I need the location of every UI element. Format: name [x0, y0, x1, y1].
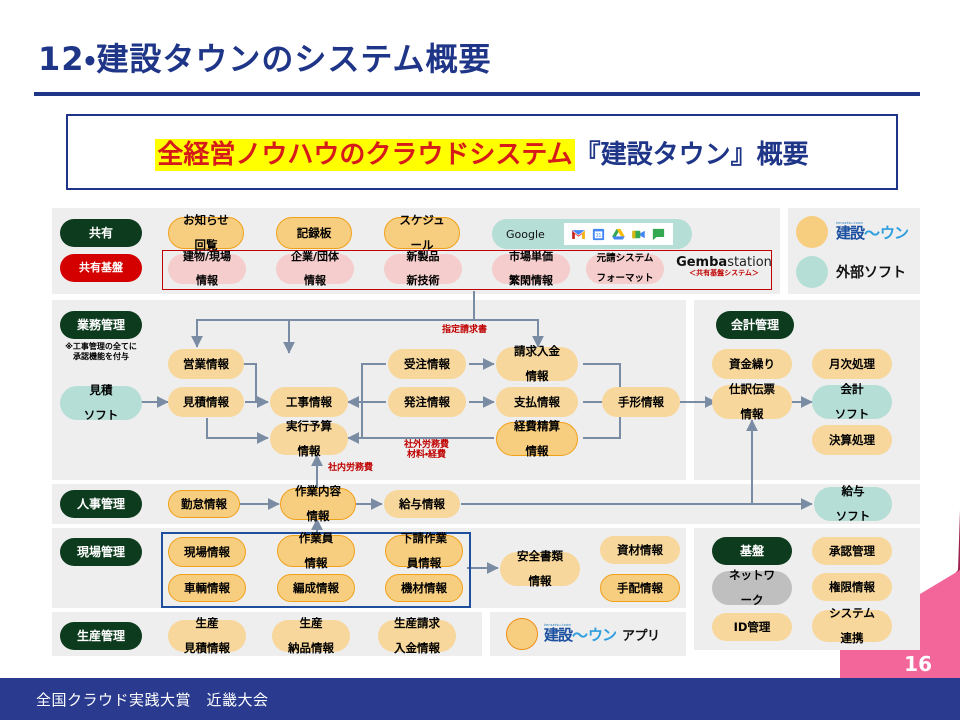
node-jikko-yosan[interactable]: 実行予算情報 [270, 423, 348, 455]
kt-app-wave-icon: 〜 [572, 628, 588, 644]
node-shijo-tanka[interactable]: 市場単価繁閑情報 [492, 254, 570, 284]
business-note: ※工事管理の全てに 承認機能を付与 [55, 342, 147, 361]
slide-root: 12・建設タウンのシステム概要 全経営ノウハウのクラウドシステム『建設タウン』概… [0, 0, 960, 720]
kt-wave-icon: 〜 [864, 226, 880, 242]
annotation-shitei-seikyusho: 指定請求書 [442, 325, 487, 335]
legend-dot-teal [796, 256, 828, 288]
category-share: 共有 [60, 219, 142, 247]
node-kizai-joho[interactable]: 機材情報 [385, 574, 463, 602]
gmail-icon [571, 227, 586, 242]
app-circle-icon [506, 618, 538, 650]
category-hr: 人事管理 [60, 490, 142, 518]
kt-kanji: 建設 [836, 226, 864, 241]
legend-external-software: 外部ソフト [796, 256, 906, 288]
node-getsuji-shori[interactable]: 月次処理 [812, 349, 892, 379]
node-genba-joho[interactable]: 現場情報 [168, 537, 246, 567]
node-kyuyo-soft[interactable]: 給与ソフト [814, 487, 892, 521]
google-suite-pill[interactable]: Google 31 [492, 219, 692, 249]
app-label: アプリ [622, 625, 660, 644]
node-motouke-format[interactable]: 元請システムフォーマット [586, 254, 664, 284]
kensetsu-town-app-row: kensetsu-town 建設〜ウン アプリ [506, 618, 660, 650]
node-sagyoin-joho[interactable]: 作業員情報 [277, 535, 355, 567]
node-kessan-shori[interactable]: 決算処理 [812, 425, 892, 455]
node-tegata-joho[interactable]: 手形情報 [602, 387, 680, 417]
node-shonin-kanri[interactable]: 承認管理 [812, 537, 892, 565]
subtitle-highlight: 全経営ノウハウのクラウドシステム [155, 139, 574, 171]
node-network[interactable]: ネットワーク [712, 571, 792, 605]
node-shikin-guri[interactable]: 資金繰り [712, 349, 792, 379]
google-icons-strip: 31 [564, 223, 673, 245]
category-accounting: 会計管理 [716, 311, 794, 339]
legend-dot-orange [796, 216, 828, 248]
gemba-station-subtitle: ＜共有基盤システム＞ [672, 270, 776, 278]
title-divider [34, 92, 920, 96]
node-kintai-joho[interactable]: 勤怠情報 [168, 490, 240, 518]
node-kigyo-dantai[interactable]: 企業/団体情報 [276, 254, 354, 284]
node-eigyo-joho[interactable]: 営業情報 [168, 349, 244, 379]
node-shiharai-joho[interactable]: 支払情報 [496, 387, 578, 417]
node-schedule[interactable]: スケジュール [384, 217, 460, 249]
page-title: 12・建設タウンのシステム概要 [38, 36, 738, 82]
footer-text: 全国クラウド実践大賞 近畿大会 [36, 689, 269, 710]
drive-icon [611, 227, 626, 242]
node-shinseihin[interactable]: 新製品新技術 [384, 254, 462, 284]
business-panel [52, 300, 686, 480]
category-site: 現場管理 [60, 538, 142, 566]
node-sharyo-joho[interactable]: 車輌情報 [168, 574, 246, 602]
kt-app-kata: ウン [588, 628, 616, 643]
category-share-base: 共有基盤 [60, 254, 142, 282]
node-id-kanri[interactable]: ID管理 [712, 613, 792, 641]
category-platform: 基盤 [712, 537, 792, 565]
kensetsu-town-app-logo: kensetsu-town 建設〜ウン [544, 624, 616, 643]
node-koji-joho[interactable]: 工事情報 [270, 387, 348, 417]
gemba-station-logo: Gembastation ＜共有基盤システム＞ [672, 256, 776, 278]
node-juchu-joho[interactable]: 受注情報 [388, 349, 466, 379]
node-shiwake-denpyo[interactable]: 仕訳伝票情報 [712, 385, 792, 419]
node-sagyo-naiyo[interactable]: 作業内容情報 [280, 488, 356, 520]
calendar-icon: 31 [591, 227, 606, 242]
category-production: 生産管理 [60, 622, 142, 650]
node-seikyu-nyukin[interactable]: 請求入金情報 [496, 347, 578, 381]
kt-kata: ウン [880, 226, 908, 241]
node-shitauke-sagyoin[interactable]: 下請作業員情報 [385, 535, 463, 567]
annotation-shagai-roumuhi: 社外労務費 材料・経費 [404, 440, 449, 461]
subtitle-rest: 『建設タウン』概要 [575, 140, 809, 170]
node-estimate-software[interactable]: 見積ソフト [60, 386, 142, 420]
legend-external-label: 外部ソフト [836, 262, 906, 282]
node-tatemono-genba[interactable]: 建物/現場情報 [168, 254, 246, 284]
chat-icon [651, 227, 666, 242]
page-number: 16 [904, 652, 932, 676]
kt-app-kanji: 建設 [544, 628, 572, 643]
node-seisan-nohin[interactable]: 生産納品情報 [272, 620, 350, 652]
node-kirokuban[interactable]: 記録板 [276, 217, 352, 249]
node-kyuyo-joho[interactable]: 給与情報 [384, 490, 460, 518]
node-oshirase[interactable]: お知らせ回覧 [168, 217, 244, 249]
annotation-shanai-roumuhi: 社内労務費 [328, 463, 373, 473]
kensetsu-town-logo: kensetsu-town 建設〜ウン [836, 222, 908, 241]
node-kaikei-soft[interactable]: 会計ソフト [812, 385, 892, 419]
node-hacchu-joho[interactable]: 発注情報 [388, 387, 466, 417]
category-business: 業務管理 [60, 311, 142, 339]
node-keihi-seisan[interactable]: 経費精算情報 [496, 422, 578, 456]
svg-text:31: 31 [596, 233, 602, 239]
node-hensei-joho[interactable]: 編成情報 [277, 574, 355, 602]
meet-icon [631, 227, 646, 242]
node-anzen-shorui[interactable]: 安全書類情報 [500, 552, 580, 586]
node-system-renkei[interactable]: システム連携 [812, 610, 892, 642]
node-kengen-joho[interactable]: 権限情報 [812, 573, 892, 601]
subtitle-text: 全経営ノウハウのクラウドシステム『建設タウン』概要 [155, 134, 808, 171]
node-tehai-joho[interactable]: 手配情報 [600, 574, 680, 602]
node-seisan-seikyu[interactable]: 生産請求入金情報 [378, 620, 456, 652]
subtitle-banner: 全経営ノウハウのクラウドシステム『建設タウン』概要 [66, 114, 898, 190]
node-seisan-mitsumori[interactable]: 生産見積情報 [168, 620, 246, 652]
node-shizai-joho[interactable]: 資材情報 [600, 536, 680, 564]
google-label: Google [492, 228, 560, 241]
node-mitsumori-joho[interactable]: 見積情報 [168, 387, 244, 417]
legend-kensetsu-town: kensetsu-town 建設〜ウン [796, 216, 908, 248]
